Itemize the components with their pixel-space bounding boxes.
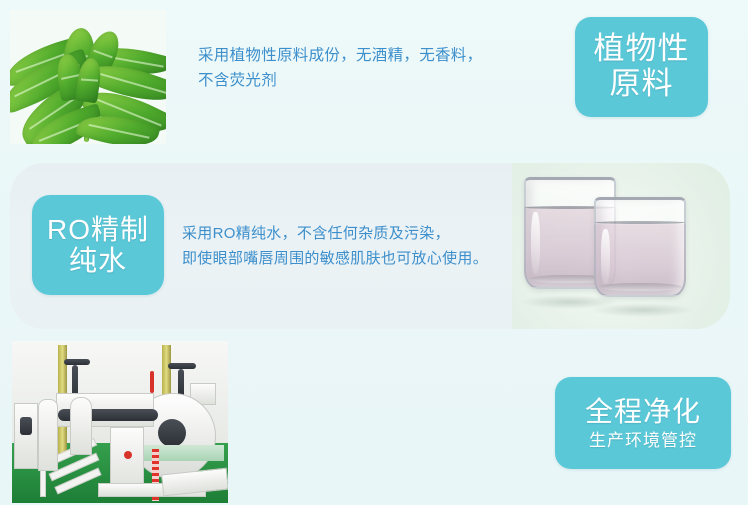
- product-feature-infographic: 植物性 原料 采用植物性原料成份，无酒精，无香料， 不含荧光剂 RO: [0, 0, 748, 505]
- badge-plant-material: 植物性 原料: [575, 17, 708, 117]
- badge-purified-production: 全程净化 生产环境管控: [555, 377, 731, 469]
- feature-section-ro-water: RO精制 纯水 采用RO精纯水，不含任何杂质及污染， 即使眼部嘴唇周围的敏感肌肤…: [10, 163, 730, 329]
- badge-ro-water-line-1: RO精制: [47, 214, 149, 245]
- badge-purified-production-sub: 生产环境管控: [589, 431, 697, 450]
- green-leaves-photo: [10, 10, 166, 144]
- feature-section-plant-material: 植物性 原料 采用植物性原料成份，无酒精，无香料， 不含荧光剂: [0, 0, 748, 155]
- badge-ro-water-line-2: 纯水: [69, 245, 127, 276]
- badge-ro-water: RO精制 纯水: [32, 195, 164, 295]
- factory-production-line-photo: [12, 341, 228, 503]
- badge-plant-line-2: 原料: [610, 67, 674, 102]
- badge-purified-production-main: 全程净化: [585, 396, 701, 427]
- badge-plant-line-1: 植物性: [594, 32, 690, 67]
- feature-text-plant-material: 采用植物性原料成份，无酒精，无香料， 不含荧光剂: [198, 43, 558, 93]
- feature-text-ro-water: 采用RO精纯水，不含任何杂质及污染， 即使眼部嘴唇周围的敏感肌肤也可放心使用。: [182, 221, 552, 271]
